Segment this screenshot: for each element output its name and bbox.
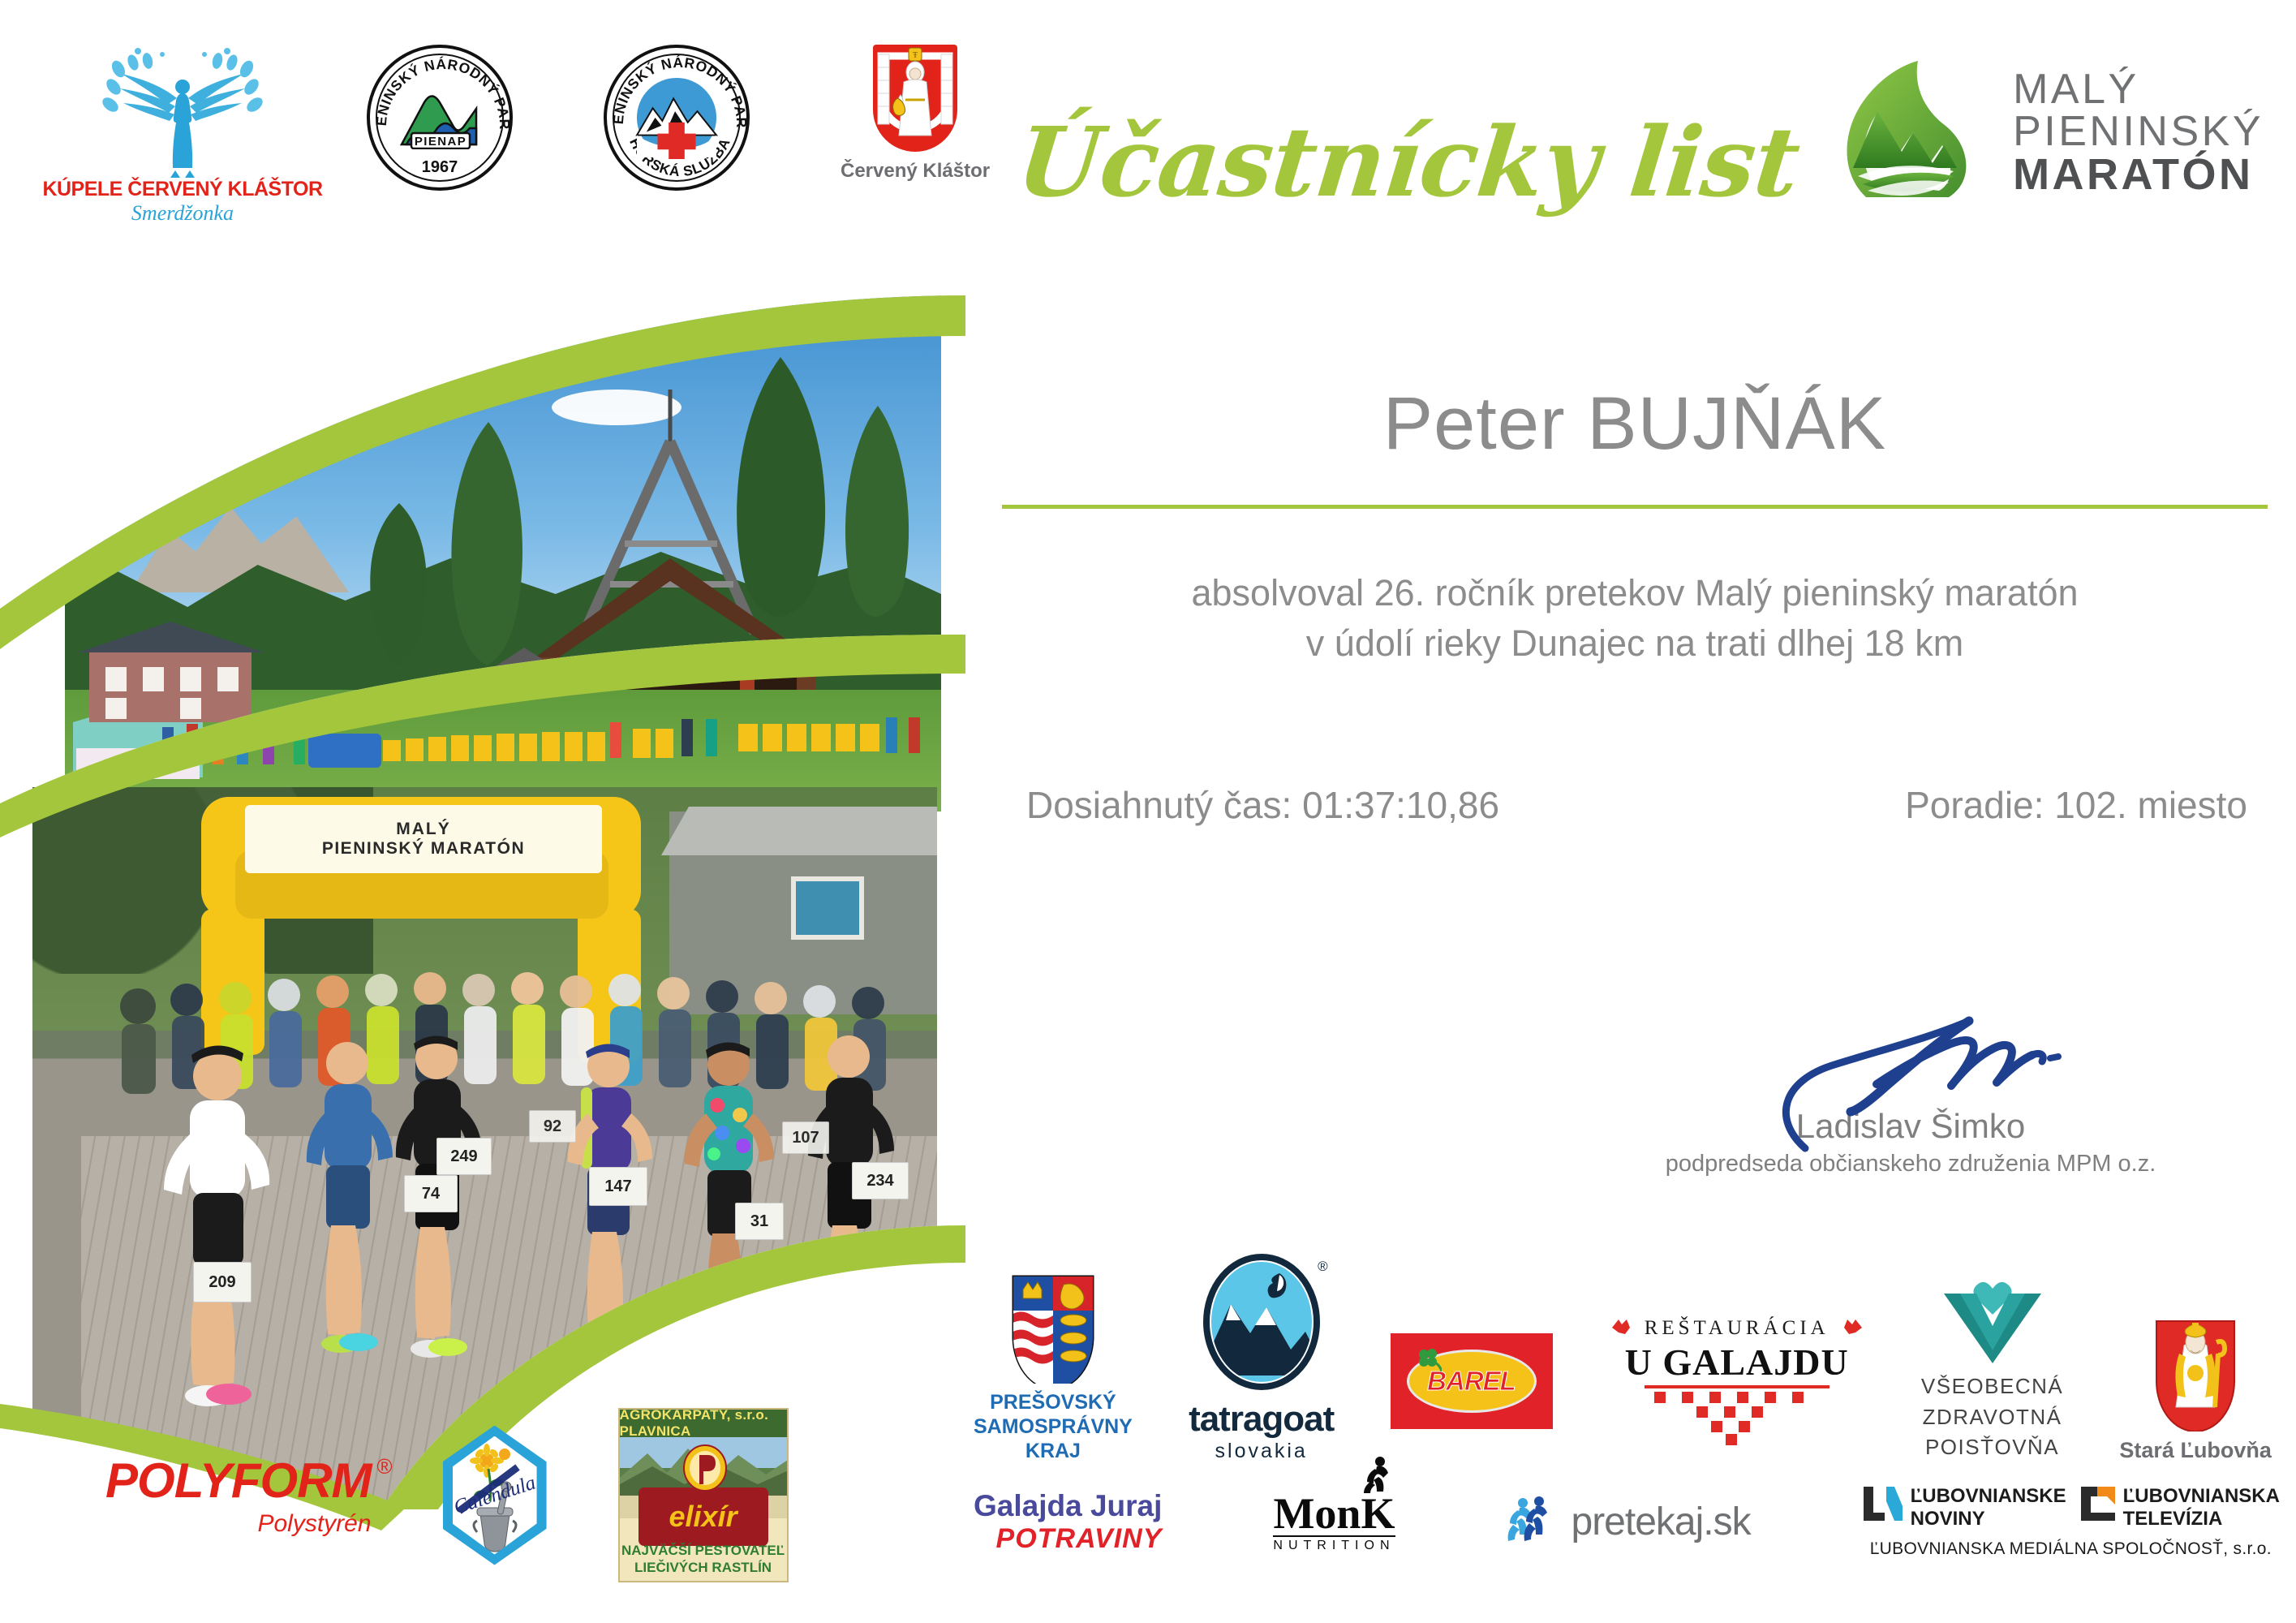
tatragoat-subtitle: slovakia <box>1215 1440 1308 1463</box>
ltv-label: ĽUBOVNIANSKA TELEVÍZIA <box>2123 1485 2280 1530</box>
folk-pattern-icon <box>1640 1384 1834 1449</box>
logo-kupele-cerveny-klastor: KÚPELE ČERVENÝ KLÁŠTOR Smerdžonka <box>89 45 276 226</box>
cerveny-klastor-shield-icon: Ŧ <box>873 45 957 152</box>
logo-horska-sluzba: PIENINSKÝ NÁRODNÝ PARK HORSKÁ SLUŽBA <box>604 45 750 191</box>
sponsor-polyform: POLYFORM ® Polystyrén <box>105 1453 372 1538</box>
tatragoat-mountain-icon <box>1202 1254 1322 1390</box>
tatragoat-wordmark: tatragoat <box>1189 1399 1334 1440</box>
sponsor-calendula: Calendula <box>443 1426 547 1565</box>
certificate-page: KÚPELE ČERVENÝ KLÁŠTOR Smerdžonka PIENIN… <box>0 0 2296 1623</box>
brand-wordmark: MALÝ PIENINSKÝ MARATÓN <box>2013 68 2264 196</box>
runner-bib: 107 <box>782 1121 829 1154</box>
sponsor-tatragoat: ® tatragoat slovakia <box>1189 1254 1334 1463</box>
sponsor-row-1: PREŠOVSKÝ SAMOSPRÁVNY KRAJ <box>974 1254 2272 1463</box>
finish-time-label: Dosiahnutý čas: <box>1026 784 1292 826</box>
participant-name: Peter BUJŇÁK <box>1002 381 2268 467</box>
svg-text:Ŧ: Ŧ <box>913 51 918 60</box>
handwritten-signature-icon <box>1631 998 2191 1120</box>
pretekaj-wordmark: pretekaj.sk <box>1572 1500 1751 1544</box>
agrokarpaty-top-label: AGROKARPATY, s.r.o. PLAVNICA <box>620 1410 787 1437</box>
presov-region-label: PREŠOVSKÝ SAMOSPRÁVNY KRAJ <box>974 1390 1133 1463</box>
sponsor-monk-nutrition: MonK NUTRITION <box>1273 1492 1395 1553</box>
presov-region-shield-icon <box>1010 1273 1096 1384</box>
kupele-title: KÚPELE ČERVENÝ KLÁŠTOR <box>42 179 322 200</box>
finish-time: Dosiahnutý čas: 01:37:10,86 <box>1026 783 1499 827</box>
leaf-mountain-icon <box>1835 61 1985 203</box>
sponsor-stara-lubovna: Stará Ľubovňa <box>2119 1318 2272 1463</box>
runner-bib: 249 <box>436 1138 492 1175</box>
stara-lubovna-label: Stará Ľubovňa <box>2119 1438 2272 1463</box>
accent-divider <box>1002 505 2268 509</box>
runner-bib: 92 <box>529 1110 576 1143</box>
brand-line-2: PIENINSKÝ <box>2013 110 2264 153</box>
arch-banner-line-2: PIENINSKÝ MARATÓN <box>322 839 525 859</box>
vzp-chevron-icon <box>1939 1276 2046 1365</box>
calendula-hex-badge: Calendula <box>443 1426 547 1565</box>
ltv-logo-icon <box>2079 1485 2117 1522</box>
placement-label: Poradie: <box>1905 784 2044 826</box>
sponsor-agrokarpaty-elixir: AGROKARPATY, s.r.o. PLAVNICA elixír <box>618 1408 789 1582</box>
description-line-1: absolvoval 26. ročník pretekov Malý pien… <box>1002 568 2268 618</box>
runner-bib: 209 <box>193 1262 252 1302</box>
elixir-bottom-label: NAJVÄČŠÍ PESTOVATEĽ LIEČIVÝCH RASTLÍN <box>620 1543 787 1576</box>
lms-brands: ĽUBOVNIANSKE NOVINY ĽUBOVNIANSKA TELEVÍZ… <box>1862 1485 2280 1530</box>
arch-banner-line-1: MALÝ <box>396 820 451 839</box>
results-row: Dosiahnutý čas: 01:37:10,86 Poradie: 102… <box>1002 783 2272 827</box>
arch-banner: MALÝ PIENINSKÝ MARATÓN <box>245 805 602 873</box>
svg-text:HORSKÁ SLUŽBA: HORSKÁ SLUŽBA <box>626 136 733 180</box>
sponsor-row-2: Galajda Juraj POTRAVINY MonK NUTRITION <box>974 1485 2280 1559</box>
pienap-seal-icon: PIENINSKÝ NÁRODNÝ PARK PIENAP 1967 <box>367 45 513 191</box>
logo-cerveny-klastor: Ŧ Červený Kláštor <box>841 45 990 183</box>
runner-bib: 147 <box>589 1167 647 1206</box>
signature-block: Ladislav Šimko podpredseda občianskeho z… <box>1631 998 2191 1177</box>
sponsor-galajda-juraj: Galajda Juraj POTRAVINY <box>974 1489 1162 1555</box>
tatragoat-registered-mark: ® <box>1318 1259 1328 1275</box>
kupele-subtitle: Smerdžonka <box>131 201 234 226</box>
u-galajdu-top-label: REŠTAURÁCIA <box>1645 1317 1829 1340</box>
monk-subtitle: NUTRITION <box>1273 1535 1395 1553</box>
stara-lubovna-shield-icon <box>2152 1318 2239 1431</box>
sponsor-vseobecna-zdravotna-poistovna: VŠEOBECNÁ ZDRAVOTNÁ POISŤOVŇA <box>1921 1276 2063 1463</box>
photo-festival-stage <box>65 292 941 811</box>
sponsor-pretekaj-sk: pretekaj.sk <box>1507 1496 1751 1549</box>
elixir-emblem-icon <box>681 1444 729 1500</box>
lms-company-name: ĽUBOVNIANSKA MEDIÁLNA SPOLOČNOSŤ, s.r.o. <box>1870 1539 2272 1559</box>
folk-ornament-icon <box>1841 1316 1865 1341</box>
galajda-category: POTRAVINY <box>996 1523 1163 1555</box>
finish-time-value: 01:37:10,86 <box>1302 784 1499 826</box>
page-title: Účastnícky list <box>1013 105 1804 218</box>
elixir-logo-box: AGROKARPATY, s.r.o. PLAVNICA elixír <box>618 1408 789 1582</box>
photo-runners-start: MALÝ PIENINSKÝ MARATÓN <box>32 787 937 1501</box>
folk-ornament-icon <box>1609 1316 1633 1341</box>
runner-bib: 74 <box>404 1175 458 1212</box>
partner-logo-bar: KÚPELE ČERVENÝ KLÁŠTOR Smerdžonka PIENIN… <box>89 45 990 226</box>
elixir-wordmark: elixír <box>669 1500 737 1534</box>
running-figure-icon <box>1361 1456 1396 1493</box>
horska-sluzba-seal-icon: PIENINSKÝ NÁRODNÝ PARK HORSKÁ SLUŽBA <box>604 45 750 191</box>
description-line-2: v údolí rieky Dunajec na trati dlhej 18 … <box>1002 618 2268 669</box>
sponsor-lubovnianska-medialna-spolocnost: ĽUBOVNIANSKE NOVINY ĽUBOVNIANSKA TELEVÍZ… <box>1862 1485 2280 1559</box>
svg-text:PIENINSKÝ NÁRODNÝ PARK: PIENINSKÝ NÁRODNÝ PARK <box>607 48 750 128</box>
vzp-label: VŠEOBECNÁ ZDRAVOTNÁ POISŤOVŇA <box>1921 1371 2063 1463</box>
polyform-wordmark: POLYFORM <box>105 1453 372 1508</box>
brand-line-1: MALÝ <box>2013 68 2264 110</box>
cerveny-klastor-label: Červený Kláštor <box>841 160 990 183</box>
signatory-role: podpredseda občianskeho združenia MPM o.… <box>1631 1151 2191 1177</box>
svg-text:PIENAP: PIENAP <box>415 135 467 149</box>
barel-logo-box: BAREL <box>1391 1333 1553 1429</box>
pienap-year: 1967 <box>422 158 458 177</box>
two-runners-icon <box>1507 1496 1560 1549</box>
angel-water-wings-icon <box>89 45 276 179</box>
barel-oval: BAREL <box>1407 1350 1537 1413</box>
svg-text:PIENINSKÝ NÁRODNÝ PARK: PIENINSKÝ NÁRODNÝ PARK <box>370 48 513 130</box>
clover-icon <box>1414 1347 1442 1373</box>
polyform-registered-mark: ® <box>376 1454 392 1479</box>
monk-wordmark: MonK <box>1273 1492 1395 1535</box>
logo-pieninsky-narodny-park: PIENINSKÝ NÁRODNÝ PARK PIENAP 1967 <box>367 45 513 191</box>
sponsor-presovsky-samospravny-kraj: PREŠOVSKÝ SAMOSPRÁVNY KRAJ <box>974 1273 1133 1463</box>
ln-logo-icon <box>1862 1485 1904 1522</box>
runner-bib: 31 <box>735 1203 784 1240</box>
galajda-name: Galajda Juraj <box>974 1489 1162 1523</box>
placement: Poradie: 102. miesto <box>1905 783 2247 827</box>
sponsor-barel: BAREL <box>1391 1333 1553 1429</box>
runner-bib: 234 <box>852 1162 909 1199</box>
sponsor-u-galajdu: REŠTAURÁCIA U GALAJDU <box>1609 1316 1865 1449</box>
ln-label: ĽUBOVNIANSKE NOVINY <box>1911 1485 2066 1530</box>
sponsor-row-bottom-left: POLYFORM ® Polystyrén <box>105 1408 789 1582</box>
brand-line-3: MARATÓN <box>2013 153 2264 196</box>
brand-logo: MALÝ PIENINSKÝ MARATÓN <box>1835 61 2264 203</box>
polyform-subtitle: Polystyrén <box>257 1510 371 1538</box>
u-galajdu-wordmark: U GALAJDU <box>1625 1341 1849 1384</box>
certificate-description: absolvoval 26. ročník pretekov Malý pien… <box>1002 568 2268 669</box>
placement-value: 102. miesto <box>2054 784 2247 826</box>
